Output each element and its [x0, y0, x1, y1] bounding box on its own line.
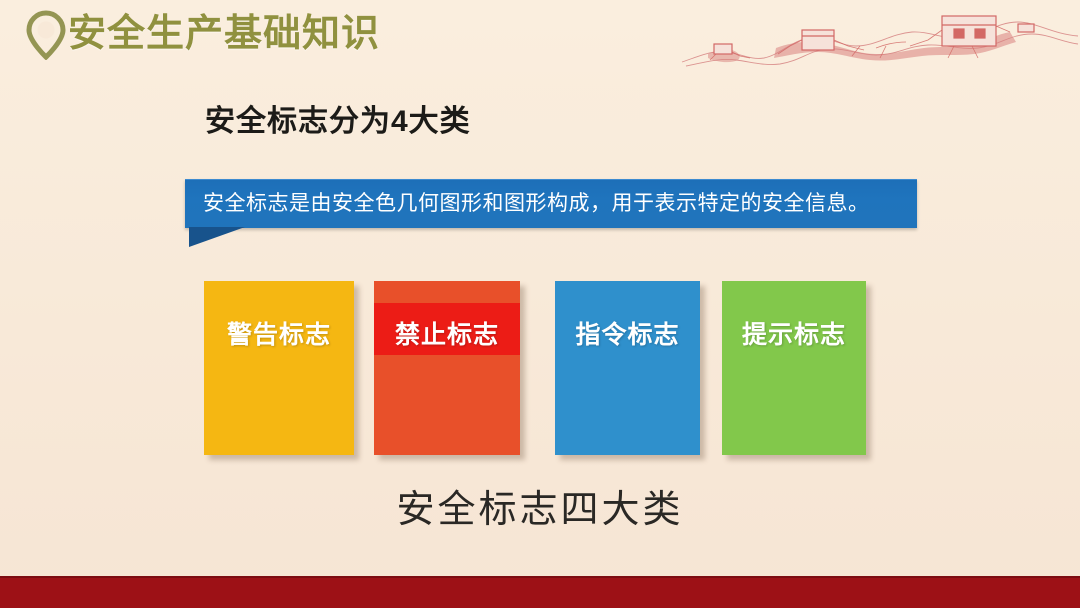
card-mandatory[interactable]: 指令标志	[555, 281, 700, 455]
card-warning-label: 警告标志	[204, 315, 354, 351]
callout-box: 安全标志是由安全色几何图形和图形构成，用于表示特定的安全信息。	[185, 179, 917, 228]
location-pin-icon	[24, 10, 68, 60]
card-notice[interactable]: 提示标志	[722, 281, 866, 455]
card-prohibition-label: 禁止标志	[374, 315, 520, 351]
slide-header: 安全生产基础知识	[0, 0, 1080, 72]
footer-bar	[0, 576, 1080, 608]
card-warning[interactable]: 警告标志	[204, 281, 354, 455]
card-prohibition[interactable]: 禁止标志	[374, 281, 520, 455]
callout-banner: 安全标志是由安全色几何图形和图形构成，用于表示特定的安全信息。	[185, 179, 917, 249]
sub-heading: 安全标志分为4大类	[205, 96, 471, 140]
great-wall-illustration	[680, 0, 1080, 74]
diagram-caption: 安全标志四大类	[0, 478, 1080, 533]
slide-canvas: 安全生产基础知识	[0, 0, 1080, 608]
sign-category-cards: 警告标志 禁止标志 指令标志 提示标志	[0, 281, 1080, 461]
callout-text: 安全标志是由安全色几何图形和图形构成，用于表示特定的安全信息。	[203, 189, 870, 219]
callout-tail	[189, 227, 245, 247]
card-mandatory-label: 指令标志	[555, 315, 700, 351]
page-title: 安全生产基础知识	[68, 8, 380, 60]
card-notice-label: 提示标志	[722, 315, 866, 351]
